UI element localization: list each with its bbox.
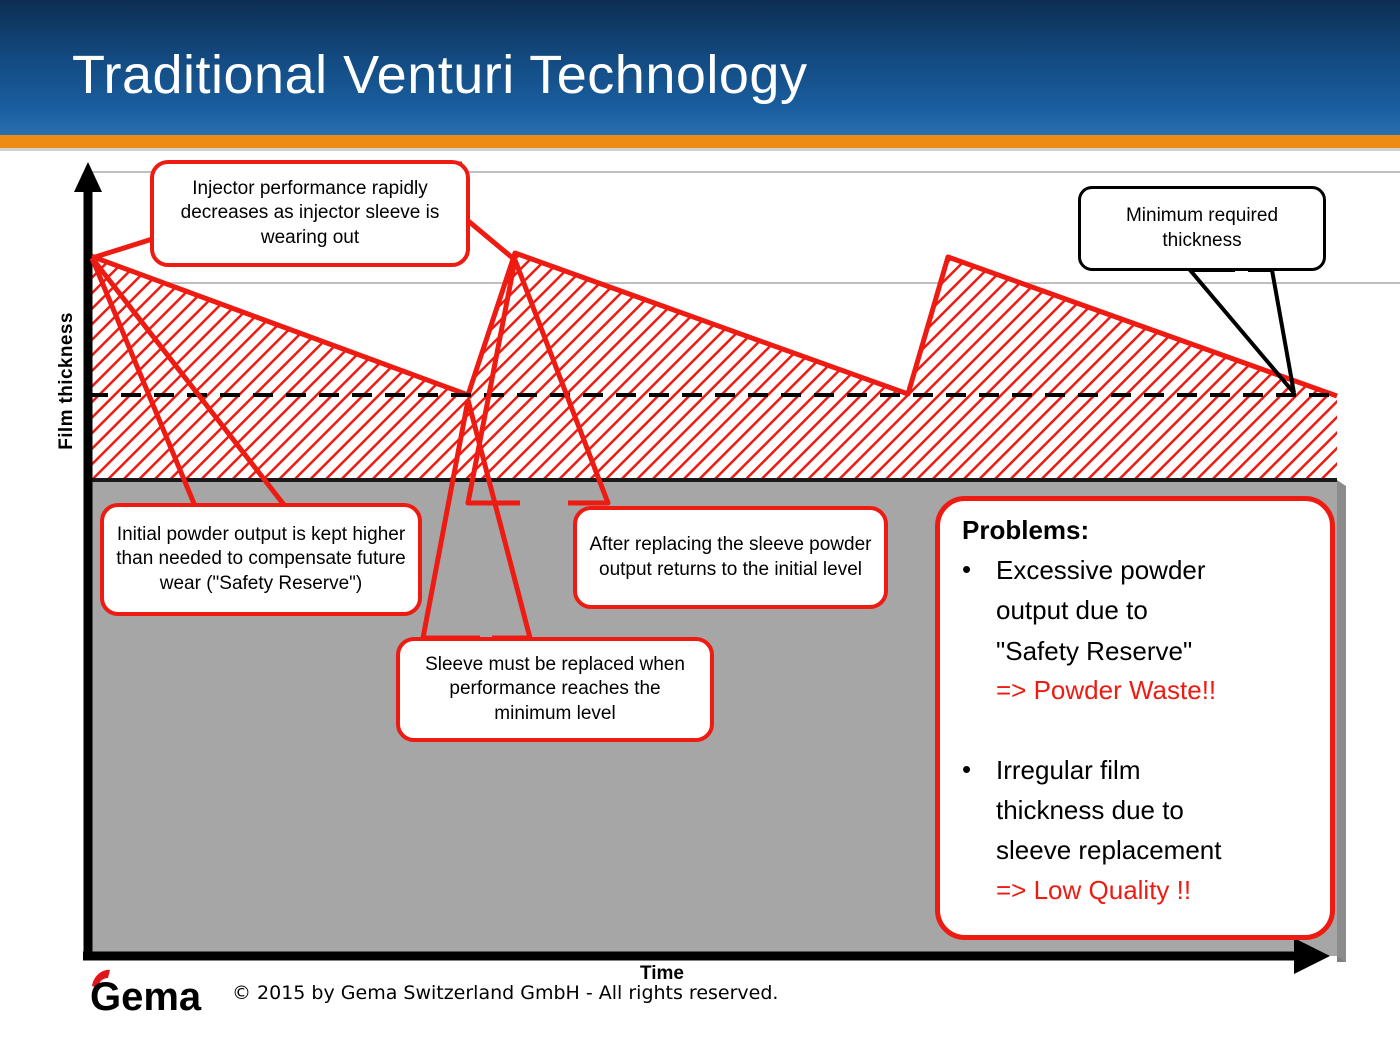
callout-minimum-text: Minimum required thickness [1093, 204, 1311, 253]
problem-list-item: • Excessive powder output due to "Safety… [962, 550, 1314, 710]
gema-logo: Gema [88, 968, 216, 1016]
problem-list-item: • Irregular film thickness due to sleeve… [962, 750, 1314, 910]
callout-after-text: After replacing the sleeve powder output… [589, 533, 872, 582]
gema-logo-text: Gema [90, 975, 202, 1016]
callout-initial-text: Initial powder output is kept higher tha… [116, 523, 406, 596]
bullet-icon: • [962, 750, 996, 782]
problems-panel: Problems: • Excessive powder output due … [935, 496, 1335, 940]
callout-initial-powder-output: Initial powder output is kept higher tha… [100, 503, 422, 616]
problem-consequence-1: => Powder Waste!! [996, 671, 1314, 710]
callout-after-replacing-sleeve: After replacing the sleeve powder output… [573, 506, 888, 609]
callout-sleeve-text: Sleeve must be replaced when performance… [412, 653, 698, 726]
page-title: Traditional Venturi Technology [72, 44, 807, 106]
callout-minimum-thickness: Minimum required thickness [1078, 186, 1326, 271]
problem-consequence-2: => Low Quality !! [996, 871, 1314, 910]
callout-injector-performance: Injector performance rapidly decreases a… [150, 160, 470, 267]
callout-injector-text: Injector performance rapidly decreases a… [166, 177, 454, 250]
bullet-icon: • [962, 550, 996, 582]
problem-text-1: Excessive powder output due to "Safety R… [996, 550, 1314, 671]
header-accent-bar [0, 135, 1400, 148]
problems-spacer [962, 710, 1314, 746]
callout-sleeve-replacement: Sleeve must be replaced when performance… [396, 637, 714, 742]
film-thickness-area [88, 253, 1337, 480]
problem-text-2: Irregular film thickness due to sleeve r… [996, 750, 1314, 871]
y-axis-label: Film thickness [56, 286, 78, 476]
copyright-text: © 2015 by Gema Switzerland GmbH - All ri… [232, 982, 778, 1004]
y-axis-arrow [74, 162, 102, 192]
problems-title: Problems: [962, 515, 1314, 546]
